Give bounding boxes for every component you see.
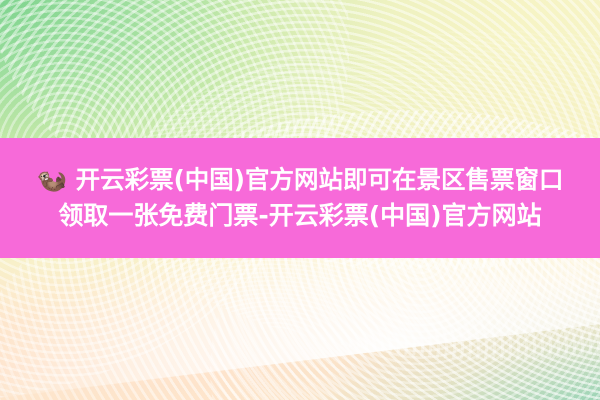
caption-line-1: 🦦 开云彩票(中国)官方网站即可在景区售票窗口 xyxy=(37,162,564,198)
promotional-banner: 🦦 开云彩票(中国)官方网站即可在景区售票窗口 领取一张免费门票-开云彩票(中国… xyxy=(0,0,600,400)
caption-line-2: 领取一张免费门票-开云彩票(中国)官方网站 xyxy=(58,198,541,234)
caption-band: 🦦 开云彩票(中国)官方网站即可在景区售票窗口 领取一张免费门票-开云彩票(中国… xyxy=(0,138,600,258)
